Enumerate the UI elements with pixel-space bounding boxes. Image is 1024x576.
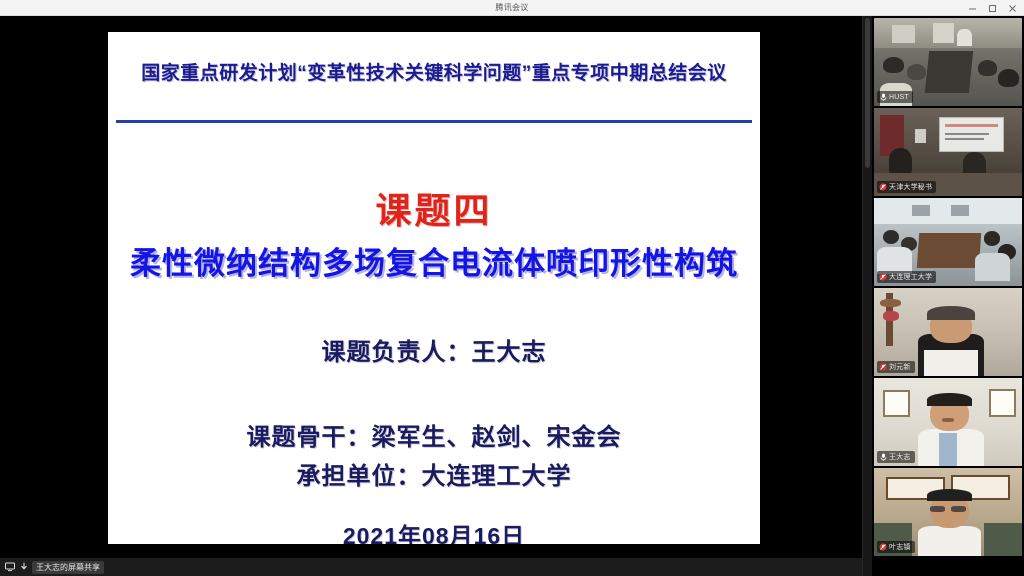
mic-off-icon: [879, 543, 887, 551]
presentation-slide: 国家重点研发计划“变革性技术关键科学问题”重点专项中期总结会议 课题四 柔性微纳…: [108, 32, 760, 544]
video-tile-4[interactable]: 刘元新: [874, 288, 1022, 376]
monitor-icon: [4, 562, 15, 573]
video-tile-6[interactable]: 叶志镇: [874, 468, 1022, 556]
scrollbar-thumb[interactable]: [865, 18, 870, 168]
slide-members-line: 课题骨干：梁军生、赵剑、宋金会: [108, 417, 760, 452]
participant-name: 刘元新: [889, 362, 911, 372]
minimize-button[interactable]: [962, 0, 982, 16]
participant-name: 叶志镇: [889, 542, 911, 552]
sidebar-scrollbar[interactable]: [862, 16, 872, 576]
slide-organization-line: 承担单位：大连理工大学: [108, 456, 760, 491]
participant-video-sidebar: HUST 天津大学秘书: [872, 16, 1024, 576]
participant-name: 大连理工大学: [889, 272, 932, 282]
mic-on-icon: [879, 93, 887, 101]
participant-name: 天津大学秘书: [889, 182, 932, 192]
slide-header-title: 国家重点研发计划“变革性技术关键科学问题”重点专项中期总结会议: [108, 58, 760, 85]
shared-screen-area[interactable]: 国家重点研发计划“变革性技术关键科学问题”重点专项中期总结会议 课题四 柔性微纳…: [0, 16, 862, 576]
video-tile-2[interactable]: 天津大学秘书: [874, 108, 1022, 196]
participant-nametag: HUST: [877, 91, 913, 103]
slide-date-line: 2021年08月16日: [108, 517, 760, 544]
mic-off-icon: [879, 183, 887, 191]
participant-nametag: 王大志: [877, 451, 915, 463]
window-titlebar: 腾讯会议: [0, 0, 1024, 16]
video-tile-5-active-speaker[interactable]: 王大志: [874, 378, 1022, 466]
pin-icon[interactable]: [18, 562, 29, 573]
participant-name: HUST: [889, 94, 909, 101]
mic-off-icon: [879, 273, 887, 281]
participant-nametag: 刘元新: [877, 361, 915, 373]
slide-topic-number: 课题四: [108, 182, 760, 234]
window-title: 腾讯会议: [495, 2, 528, 13]
close-button[interactable]: [1002, 0, 1022, 16]
participant-nametag: 天津大学秘书: [877, 181, 936, 193]
video-tile-1[interactable]: HUST: [874, 18, 1022, 106]
mic-off-icon: [879, 363, 887, 371]
slide-leader-line: 课题负责人：王大志: [108, 332, 760, 367]
mic-on-icon: [879, 453, 887, 461]
video-tile-3[interactable]: 大连理工大学: [874, 198, 1022, 286]
participant-nametag: 大连理工大学: [877, 271, 936, 283]
participant-name: 王大志: [889, 452, 911, 462]
meeting-stage: 国家重点研发计划“变革性技术关键科学问题”重点专项中期总结会议 课题四 柔性微纳…: [0, 16, 1024, 576]
window-controls: [962, 0, 1022, 16]
share-status-bar: 王大志的屏幕共享: [0, 558, 862, 576]
slide-header-rule: [116, 120, 752, 123]
participant-nametag: 叶志镇: [877, 541, 915, 553]
share-status-text: 王大志的屏幕共享: [32, 561, 104, 574]
maximize-button[interactable]: [982, 0, 1002, 16]
slide-topic-title: 柔性微纳结构多场复合电流体喷印形性构筑: [108, 238, 760, 283]
